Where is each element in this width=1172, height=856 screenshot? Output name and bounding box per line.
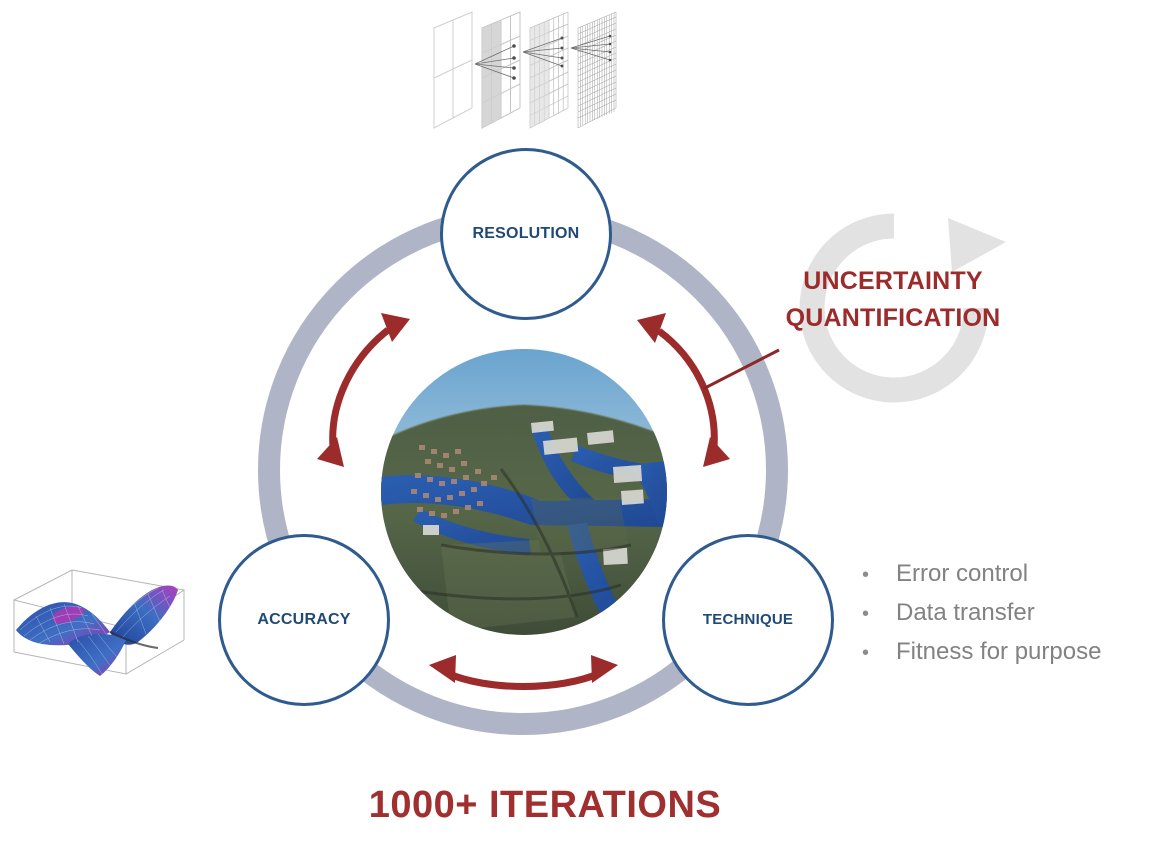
cycle-node-resolution-label: RESOLUTION xyxy=(473,225,580,243)
bullet-icon: • xyxy=(862,565,896,585)
cycle-node-technique-label: TECHNIQUE xyxy=(703,612,793,629)
page-title: 1000+ ITERATIONS xyxy=(0,784,1090,827)
cycle-node-accuracy[interactable]: ACCURACY xyxy=(218,534,390,706)
callout-line-2: QUANTIFICATION xyxy=(762,300,1024,337)
bullet-icon: • xyxy=(862,643,896,663)
cycle-node-resolution[interactable]: RESOLUTION xyxy=(440,148,612,320)
aerial-flood-simulation-photo xyxy=(381,349,667,635)
uncertainty-quantification-callout: UNCERTAINTY QUANTIFICATION xyxy=(762,263,1024,337)
list-item-label: Fitness for purpose xyxy=(896,638,1101,666)
mesh-refinement-figure xyxy=(428,6,628,138)
list-item: • Error control xyxy=(862,560,1172,599)
list-item: • Fitness for purpose xyxy=(862,638,1172,677)
list-item-label: Data transfer xyxy=(896,599,1035,627)
diagram-canvas: RESOLUTION ACCURACY TECHNIQUE UNCERTAINT… xyxy=(0,0,1172,856)
cycle-node-accuracy-label: ACCURACY xyxy=(257,611,350,629)
list-item-label: Error control xyxy=(896,560,1028,588)
feature-bullet-list: • Error control • Data transfer • Fitnes… xyxy=(862,560,1172,677)
cycle-node-technique[interactable]: TECHNIQUE xyxy=(662,534,834,706)
list-item: • Data transfer xyxy=(862,599,1172,638)
surface-plot-figure xyxy=(6,556,192,684)
bullet-icon: • xyxy=(862,604,896,624)
arrow-accuracy-technique xyxy=(429,655,618,687)
callout-line-1: UNCERTAINTY xyxy=(762,263,1024,300)
